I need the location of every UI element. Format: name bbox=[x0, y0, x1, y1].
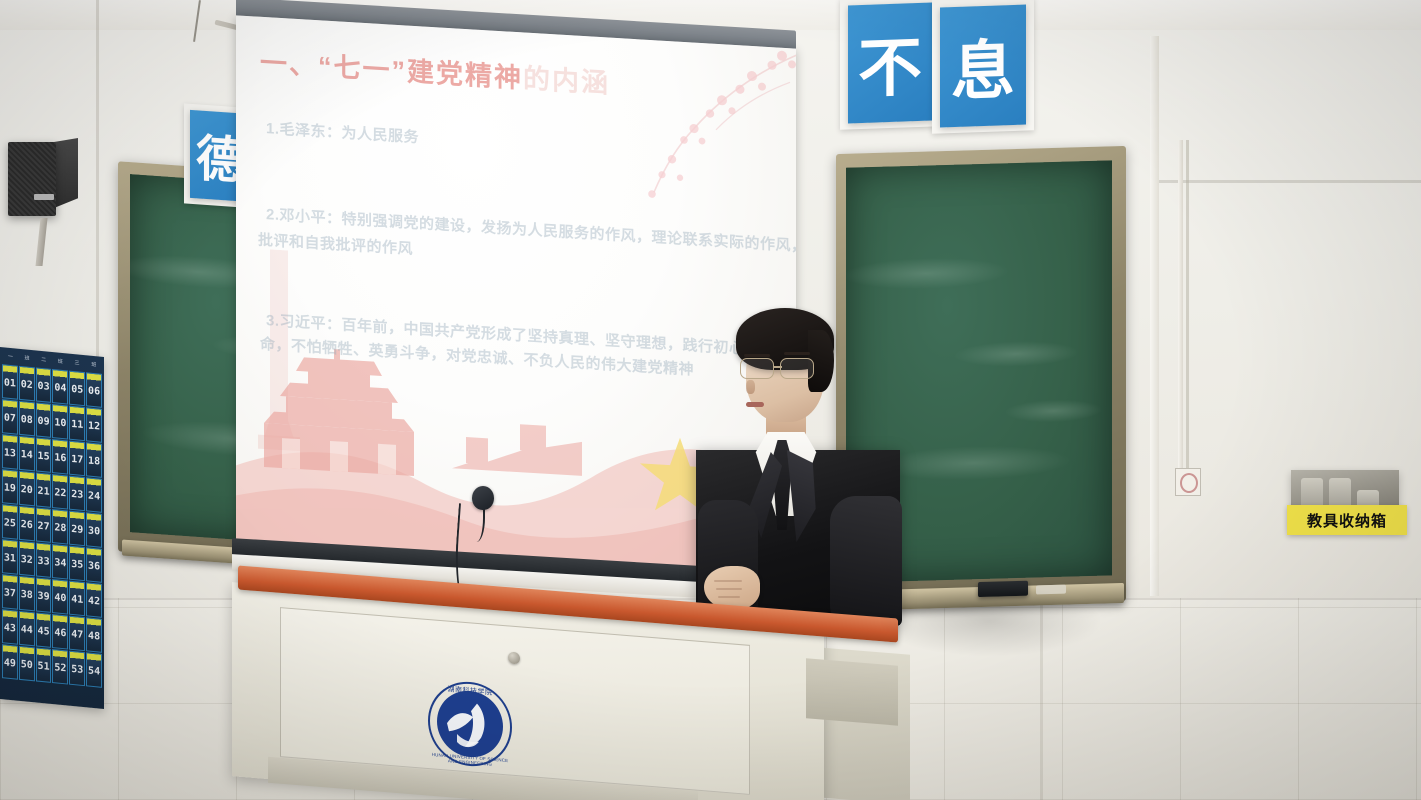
wall-speaker bbox=[8, 138, 78, 220]
organizer-pocket-number: 38 bbox=[20, 589, 34, 601]
finger-line bbox=[714, 580, 742, 582]
organizer-pocket-number: 15 bbox=[37, 451, 51, 463]
organizer-pocket-number: 10 bbox=[53, 417, 67, 429]
lectern-shelf-recess bbox=[806, 658, 898, 725]
lens-right bbox=[780, 358, 814, 379]
wall-sign-bu: 不 bbox=[848, 3, 932, 124]
organizer-pocket-number: 27 bbox=[37, 521, 51, 533]
organizer-pocket[interactable]: 54 bbox=[86, 652, 102, 688]
podium-shadow bbox=[880, 586, 1100, 656]
organizer-pocket[interactable]: 02 bbox=[19, 366, 35, 402]
organizer-pocket-number: 42 bbox=[87, 595, 101, 607]
organizer-pocket[interactable]: 15 bbox=[36, 437, 52, 473]
organizer-pocket-number: 07 bbox=[3, 412, 17, 424]
organizer-pocket-number: 49 bbox=[3, 657, 17, 669]
organizer-pocket-number: 28 bbox=[53, 522, 67, 534]
organizer-pocket[interactable]: 07 bbox=[2, 399, 18, 435]
lectern-lock-icon[interactable] bbox=[508, 652, 520, 665]
eyebrow-right bbox=[784, 352, 810, 355]
electrical-conduit bbox=[1178, 140, 1183, 470]
organizer-pocket-number: 26 bbox=[20, 519, 34, 531]
organizer-pocket[interactable]: 44 bbox=[19, 611, 35, 647]
organizer-pocket-number: 40 bbox=[53, 592, 67, 604]
eyebrow-left bbox=[744, 354, 770, 357]
slide-line-1: 1.毛泽东：为人民服务 bbox=[266, 117, 419, 147]
organizer-pocket-number: 05 bbox=[70, 384, 84, 396]
organizer-pocket-number: 53 bbox=[70, 664, 84, 676]
presenter bbox=[688, 300, 903, 620]
organizer-pocket-number: 13 bbox=[3, 447, 17, 459]
organizer-pocket[interactable]: 40 bbox=[52, 579, 68, 615]
organizer-pocket[interactable]: 18 bbox=[86, 442, 102, 478]
organizer-pocket-number: 17 bbox=[70, 454, 84, 466]
organizer-pocket-number: 11 bbox=[70, 419, 84, 431]
wall-pipe bbox=[1150, 36, 1159, 596]
organizer-pocket[interactable]: 32 bbox=[19, 541, 35, 577]
conduit-shadow bbox=[1186, 140, 1189, 470]
organizer-pocket[interactable]: 27 bbox=[36, 507, 52, 543]
organizer-pocket-number: 24 bbox=[87, 490, 101, 502]
organizer-pocket-number: 39 bbox=[37, 591, 51, 603]
organizer-pocket-number: 52 bbox=[53, 662, 67, 674]
organizer-pocket-number: 19 bbox=[3, 482, 17, 494]
organizer-pocket-number: 32 bbox=[20, 554, 34, 566]
mic-capsule-icon bbox=[472, 486, 494, 510]
organizer-pocket-number: 50 bbox=[20, 659, 34, 671]
organizer-pocket[interactable]: 06 bbox=[86, 372, 102, 408]
organizer-pocket-number: 35 bbox=[70, 559, 84, 571]
wall-seam-right bbox=[1150, 180, 1421, 183]
organizer-pocket[interactable]: 01 bbox=[2, 364, 18, 400]
organizer-pocket-number: 14 bbox=[20, 449, 34, 461]
organizer-pocket[interactable]: 03 bbox=[36, 367, 52, 403]
organizer-pocket-number: 36 bbox=[87, 560, 101, 572]
organizer-pocket-number: 06 bbox=[87, 385, 101, 397]
university-emblem: 湖南科技学院 HUNAN UNIVERSITY OF SCIENCE AND E… bbox=[428, 679, 512, 770]
organizer-pocket-number: 41 bbox=[70, 594, 84, 606]
organizer-pocket[interactable]: 39 bbox=[36, 577, 52, 613]
organizer-pocket[interactable]: 38 bbox=[19, 576, 35, 612]
organizer-pocket[interactable]: 51 bbox=[36, 647, 52, 683]
organizer-pocket[interactable]: 52 bbox=[52, 649, 68, 685]
slide-title-main: 一、“七一”建党精神 bbox=[260, 48, 523, 94]
organizer-pocket[interactable]: 12 bbox=[86, 407, 102, 443]
organizer-pocket-number: 44 bbox=[20, 624, 34, 636]
organizer-pocket[interactable]: 11 bbox=[69, 406, 85, 442]
organizer-pocket[interactable]: 47 bbox=[69, 616, 85, 652]
organizer-pocket[interactable]: 22 bbox=[52, 474, 68, 510]
organizer-pocket[interactable]: 53 bbox=[69, 651, 85, 687]
organizer-pocket[interactable]: 42 bbox=[86, 582, 102, 618]
organizer-pocket[interactable]: 31 bbox=[2, 539, 18, 575]
organizer-pocket-number: 20 bbox=[20, 484, 34, 496]
organizer-pocket[interactable]: 13 bbox=[2, 434, 18, 470]
organizer-pocket-number: 54 bbox=[87, 665, 101, 677]
organizer-pocket[interactable]: 25 bbox=[2, 504, 18, 540]
organizer-pocket-number: 16 bbox=[53, 452, 67, 464]
organizer-pocket[interactable]: 05 bbox=[69, 371, 85, 407]
organizer-pocket[interactable]: 45 bbox=[36, 612, 52, 648]
organizer-pocket[interactable]: 35 bbox=[69, 546, 85, 582]
organizer-pocket-number: 31 bbox=[3, 552, 17, 564]
lens-left bbox=[740, 358, 774, 379]
organizer-pocket[interactable]: 21 bbox=[36, 472, 52, 508]
organizer-pocket-number: 02 bbox=[20, 379, 34, 391]
organizer-pocket[interactable]: 50 bbox=[19, 646, 35, 682]
organizer-pocket[interactable]: 43 bbox=[2, 609, 18, 645]
organizer-pocket[interactable]: 33 bbox=[36, 542, 52, 578]
slide-title-faded: 的内涵 bbox=[523, 63, 610, 98]
organizer-pocket-number: 25 bbox=[3, 517, 17, 529]
wall-outlet[interactable] bbox=[1175, 468, 1201, 496]
storage-box-label: 教具收纳箱 bbox=[1287, 505, 1407, 535]
slide-line-2b: 批评和自我批评的作风 bbox=[258, 229, 413, 259]
organizer-pocket-number: 04 bbox=[53, 382, 67, 394]
glasses-icon bbox=[740, 358, 828, 380]
organizer-pocket[interactable]: 37 bbox=[2, 574, 18, 610]
speaker-grille-icon bbox=[8, 142, 56, 216]
organizer-pocket-number: 03 bbox=[37, 381, 51, 393]
organizer-pocket-number: 18 bbox=[87, 455, 101, 467]
organizer-pocket[interactable]: 04 bbox=[52, 369, 68, 405]
organizer-pocket[interactable]: 14 bbox=[19, 436, 35, 472]
organizer-pocket[interactable]: 19 bbox=[2, 469, 18, 505]
wall-sign-xi: 息 bbox=[940, 4, 1026, 127]
organizer-pocket[interactable]: 36 bbox=[86, 547, 102, 583]
organizer-pocket-number: 01 bbox=[3, 377, 17, 389]
organizer-pocket[interactable]: 28 bbox=[52, 509, 68, 545]
organizer-pocket[interactable]: 24 bbox=[86, 477, 102, 513]
classroom-photo-scene: 德 不 息 一班二班三班 010203040506070809101112131… bbox=[0, 0, 1421, 800]
organizer-pocket-number: 34 bbox=[53, 557, 67, 569]
organizer-pocket-number: 12 bbox=[87, 420, 101, 432]
organizer-pocket[interactable]: 20 bbox=[19, 471, 35, 507]
organizer-pocket-number: 30 bbox=[87, 525, 101, 537]
organizer-pocket-number: 29 bbox=[70, 524, 84, 536]
organizer-pocket-number: 33 bbox=[37, 556, 51, 568]
organizer-pocket[interactable]: 48 bbox=[86, 617, 102, 653]
organizer-pocket[interactable]: 23 bbox=[69, 476, 85, 512]
organizer-pocket[interactable]: 08 bbox=[19, 401, 35, 437]
speaker-badge bbox=[34, 194, 54, 200]
organizer-pocket-number: 37 bbox=[3, 587, 17, 599]
organizer-pocket[interactable]: 26 bbox=[19, 506, 35, 542]
organizer-pocket-number: 23 bbox=[70, 489, 84, 501]
organizer-pocket-number: 47 bbox=[70, 629, 84, 641]
organizer-pocket[interactable]: 29 bbox=[69, 511, 85, 547]
organizer-pocket-number: 43 bbox=[3, 622, 17, 634]
slide-title: 一、“七一”建党精神的内涵 bbox=[260, 41, 610, 101]
speaker-side-panel bbox=[54, 138, 78, 208]
finger-line bbox=[716, 588, 742, 590]
organizer-pocket[interactable]: 16 bbox=[52, 439, 68, 475]
organizer-pocket[interactable]: 46 bbox=[52, 614, 68, 650]
nose bbox=[746, 380, 755, 394]
organizer-pocket[interactable]: 34 bbox=[52, 544, 68, 580]
organizer-pocket[interactable]: 41 bbox=[69, 581, 85, 617]
organizer-pocket-number: 09 bbox=[37, 416, 51, 428]
organizer-pocket-number: 21 bbox=[37, 486, 51, 498]
organizer-pocket-number: 46 bbox=[53, 627, 67, 639]
organizer-pocket-number: 45 bbox=[37, 626, 51, 638]
organizer-pocket-number: 51 bbox=[37, 661, 51, 673]
organizer-pocket-number: 22 bbox=[53, 487, 67, 499]
organizer-pocket[interactable]: 09 bbox=[36, 402, 52, 438]
organizer-pocket-number: 08 bbox=[20, 414, 34, 426]
organizer-pocket-number: 48 bbox=[87, 630, 101, 642]
organizer-pocket[interactable]: 10 bbox=[52, 404, 68, 440]
organizer-pocket-grid: 0102030405060708091011121314151617181920… bbox=[2, 364, 102, 688]
mouth bbox=[746, 402, 764, 407]
organizer-pocket[interactable]: 17 bbox=[69, 441, 85, 477]
lectern[interactable]: 湖南科技学院 HUNAN UNIVERSITY OF SCIENCE AND E… bbox=[232, 592, 910, 800]
glasses-bridge bbox=[774, 366, 782, 368]
phone-pocket-organizer[interactable]: 一班二班三班 010203040506070809101112131415161… bbox=[0, 347, 104, 709]
outlet-mark-icon bbox=[1180, 473, 1198, 493]
organizer-pocket[interactable]: 49 bbox=[2, 644, 18, 680]
organizer-pocket[interactable]: 30 bbox=[86, 512, 102, 548]
